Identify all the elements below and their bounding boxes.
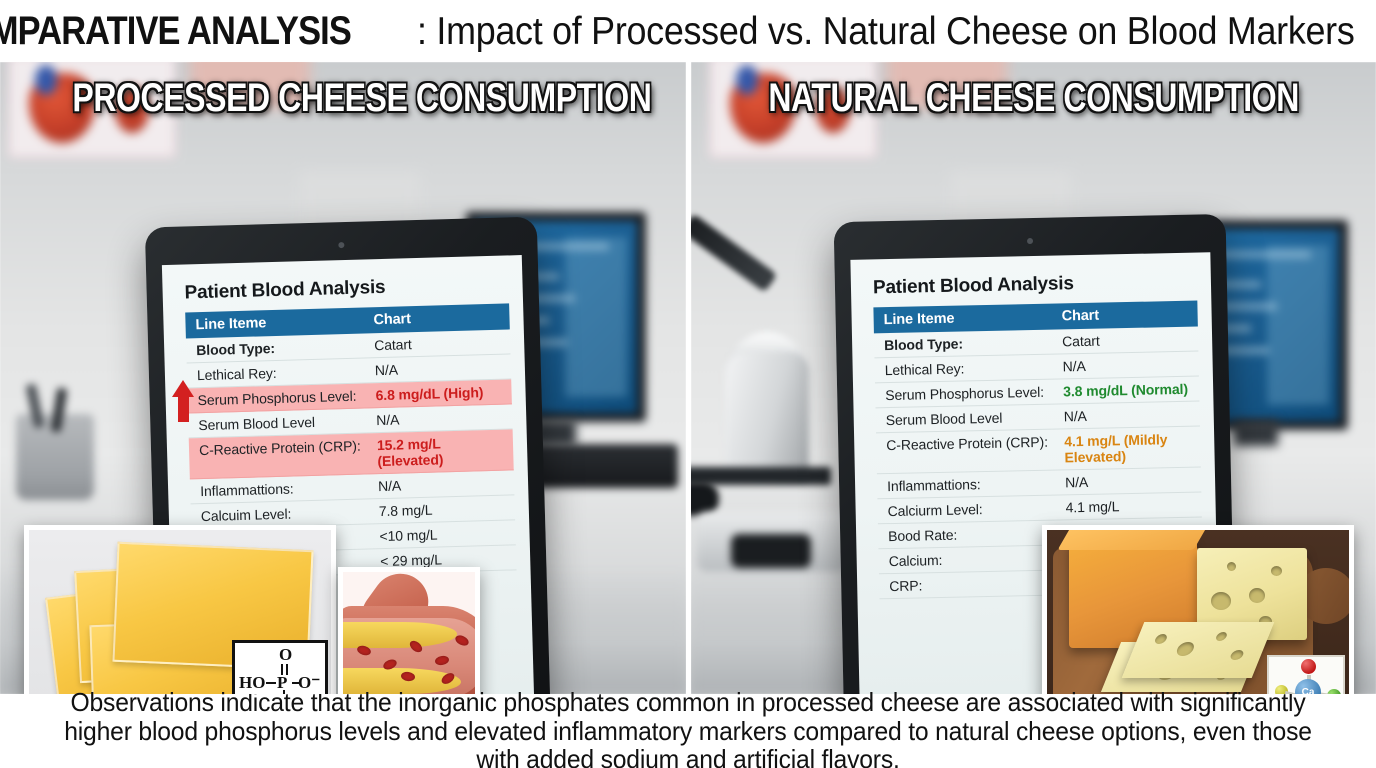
infographic-root: COMPARATIVE ANALYSIS: Impact of Processe… [0,0,1376,768]
camera-icon [1027,238,1033,244]
row-label: Calcuim Level: [201,503,379,524]
row-value: Catart [374,334,500,354]
row-value: 15.2 mg/L (Elevated) [377,434,504,470]
column-header-chart: Chart [373,311,411,328]
row-label: Calciurm Level: [887,499,1065,519]
row-label: Serum Blood Level [198,412,376,433]
panel-heading-processed: PROCESSED CHEESE CONSUMPTION [0,76,686,121]
row-label: Blood Type: [196,337,374,358]
formula-oxygen-top: O [279,645,292,665]
page-title-strong: COMPARATIVE ANALYSIS [0,11,351,51]
row-value: 4.1 mg/L (Mildly Elevated) [1064,431,1191,466]
row-label: CRP: [889,574,1067,594]
row-label: Serum Phosphorus Level: [197,387,375,408]
row-value: <10 mg/L [379,525,505,545]
row-value: N/A [378,475,504,495]
row-label: Inflammattions: [200,478,378,499]
row-label: C-Reactive Protein (CRP): [886,433,1064,453]
row-label: Serum Phosphorus Level: [885,383,1063,403]
row-value: N/A [376,409,502,429]
row-label: Inflammattions: [887,474,1065,494]
page-title-bar: COMPARATIVE ANALYSIS: Impact of Processe… [0,0,1376,62]
caption-text: Observations indicate that the inorganic… [44,688,1332,768]
row-label: Bood Rate: [888,524,1066,544]
page-title: COMPARATIVE ANALYSIS: Impact of Processe… [0,11,1376,51]
inset-clogged-artery-illustration [338,567,480,694]
formula-oxygen-anion: O⁻ [298,673,320,693]
instrument-cup-icon [16,414,94,500]
row-value: 4.1 mg/L [1065,497,1191,516]
row-value: N/A [1064,406,1190,425]
row-label: Lethical Rey: [197,362,375,383]
panel-heading-natural: NATURAL CHEESE CONSUMPTION [691,76,1376,121]
camera-icon [338,242,344,248]
swiss-slice-icon [1122,622,1275,678]
row-label: Calcium: [889,549,1067,569]
report-title: Patient Blood Analysis [873,271,1197,300]
row-value: N/A [375,359,501,379]
row-value: 7.8 mg/L [379,500,505,520]
phosphate-formula-icon: O HO P O⁻ OH [232,640,328,694]
microscope-body-icon [725,352,809,482]
calcium-molecule-icon: Ca [1267,655,1345,694]
calcium-atom-icon: Ca [1295,679,1321,694]
inset-natural-cheese-photo: Ca [1042,525,1354,694]
row-label: Serum Blood Level [886,408,1064,428]
row-value: N/A [1063,356,1189,375]
column-header-chart: Chart [1061,308,1099,325]
column-header-line-item: Line Iteme [195,312,373,333]
page-title-rest: : Impact of Processed vs. Natural Cheese… [417,12,1355,51]
oxygen-atom-icon [1301,659,1316,674]
comparison-panels: PROCESSED CHEESE CONSUMPTION Patient Blo… [0,62,1376,694]
row-value: N/A [1065,472,1191,491]
row-value: Catart [1062,331,1188,350]
table-row-crp-mild: C-Reactive Protein (CRP): 4.1 mg/L (Mild… [876,427,1201,475]
row-value: 3.8 mg/dL (Normal) [1063,381,1189,400]
row-label: C-Reactive Protein (CRP): [199,437,377,458]
up-arrow-icon [172,380,194,422]
panel-natural-cheese: NATURAL CHEESE CONSUMPTION Patient Blood… [691,62,1376,694]
panel-processed-cheese: PROCESSED CHEESE CONSUMPTION Patient Blo… [0,62,686,694]
report-title: Patient Blood Analysis [184,273,508,304]
formula-hydroxyl-left: HO [239,673,265,693]
row-value: 6.8 mg/dL (High) [375,384,501,404]
column-header-line-item: Line Iteme [883,308,1061,328]
calcium-atom-label: Ca [1295,679,1321,694]
row-label: Blood Type: [884,333,1062,353]
row-label: Lethical Rey: [885,358,1063,378]
caption-bar: Observations indicate that the inorganic… [0,694,1376,768]
